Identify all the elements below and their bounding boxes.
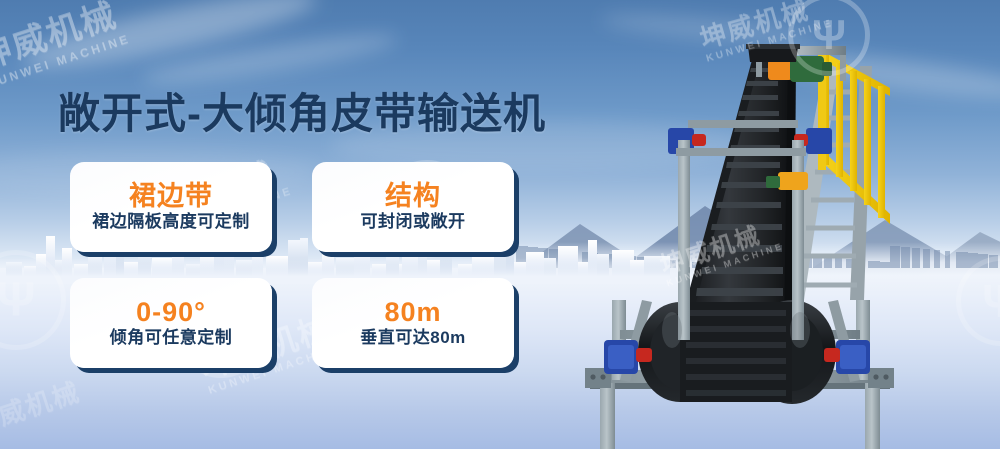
feature-card-angle[interactable]: 0-90° 倾角可任意定制 xyxy=(70,278,272,368)
feature-card-subtext: 垂直可达80m xyxy=(360,329,466,348)
watermark-logo-glyph: Ψ xyxy=(982,274,1000,328)
product-banner: 坤威机械 KUNWEI MACHINE 坤威机械 KUNWEI MACHINE … xyxy=(0,0,1000,449)
conveyor-machine-photo xyxy=(560,0,1000,449)
page-title: 敞开式-大倾角皮带输送机 xyxy=(58,80,546,141)
feature-card-heading: 裙边带 xyxy=(129,182,213,210)
feature-card-heading: 0-90° xyxy=(136,298,206,326)
feature-card-heading: 结构 xyxy=(385,182,441,210)
feature-card-structure[interactable]: 结构 可封闭或敞开 xyxy=(312,162,514,252)
feature-card-subtext: 倾角可任意定制 xyxy=(110,329,233,348)
watermark-logo-glyph: Ψ xyxy=(812,11,846,59)
feature-card-subtext: 裙边隔板高度可定制 xyxy=(92,213,250,232)
feature-card-heading: 80m xyxy=(384,298,441,326)
feature-card-height[interactable]: 80m 垂直可达80m xyxy=(312,278,514,368)
watermark-logo-glyph: Ψ xyxy=(0,273,35,328)
feature-card-subtext: 可封闭或敞开 xyxy=(361,213,466,232)
feature-card-skirt-belt[interactable]: 裙边带 裙边隔板高度可定制 xyxy=(70,162,272,252)
